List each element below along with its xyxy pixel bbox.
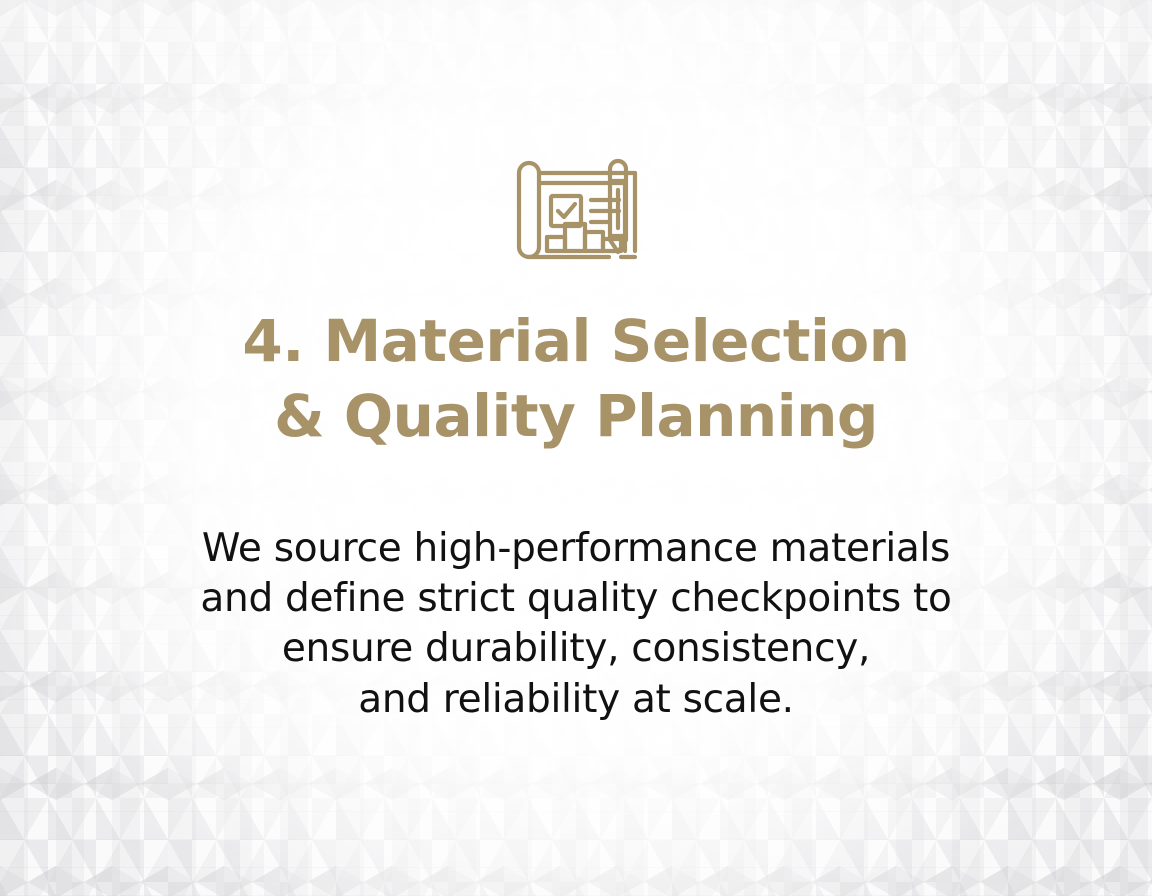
slide-canvas: 4. Material Selection & Quality Planning… <box>0 0 1152 896</box>
slide-body-text: We source high-performance materials and… <box>200 524 951 725</box>
slide-body-line-3: ensure durability, consistency, <box>200 624 951 674</box>
slide-content: 4. Material Selection & Quality Planning… <box>0 0 1152 896</box>
slide-body-line-2: and define strict quality checkpoints to <box>200 574 951 624</box>
slide-body-line-4: and reliability at scale. <box>200 675 951 725</box>
slide-title-line-1: 4. Material Selection <box>242 304 909 379</box>
slide-body-line-1: We source high-performance materials <box>200 524 951 574</box>
slide-title: 4. Material Selection & Quality Planning <box>242 304 909 455</box>
slide-title-line-2: & Quality Planning <box>242 379 909 454</box>
blueprint-checklist-pencil-icon <box>497 152 655 278</box>
blueprint-checklist-pencil-icon-svg <box>497 152 655 278</box>
